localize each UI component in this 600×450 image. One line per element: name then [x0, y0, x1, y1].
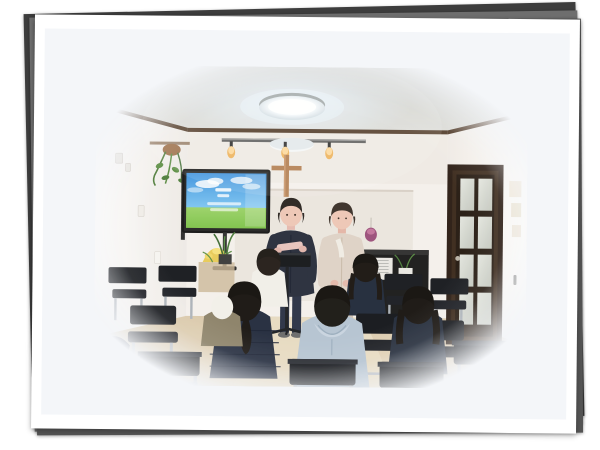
photo-frame	[31, 14, 580, 433]
photo-stage	[0, 0, 600, 450]
church-service-photograph	[93, 65, 528, 389]
